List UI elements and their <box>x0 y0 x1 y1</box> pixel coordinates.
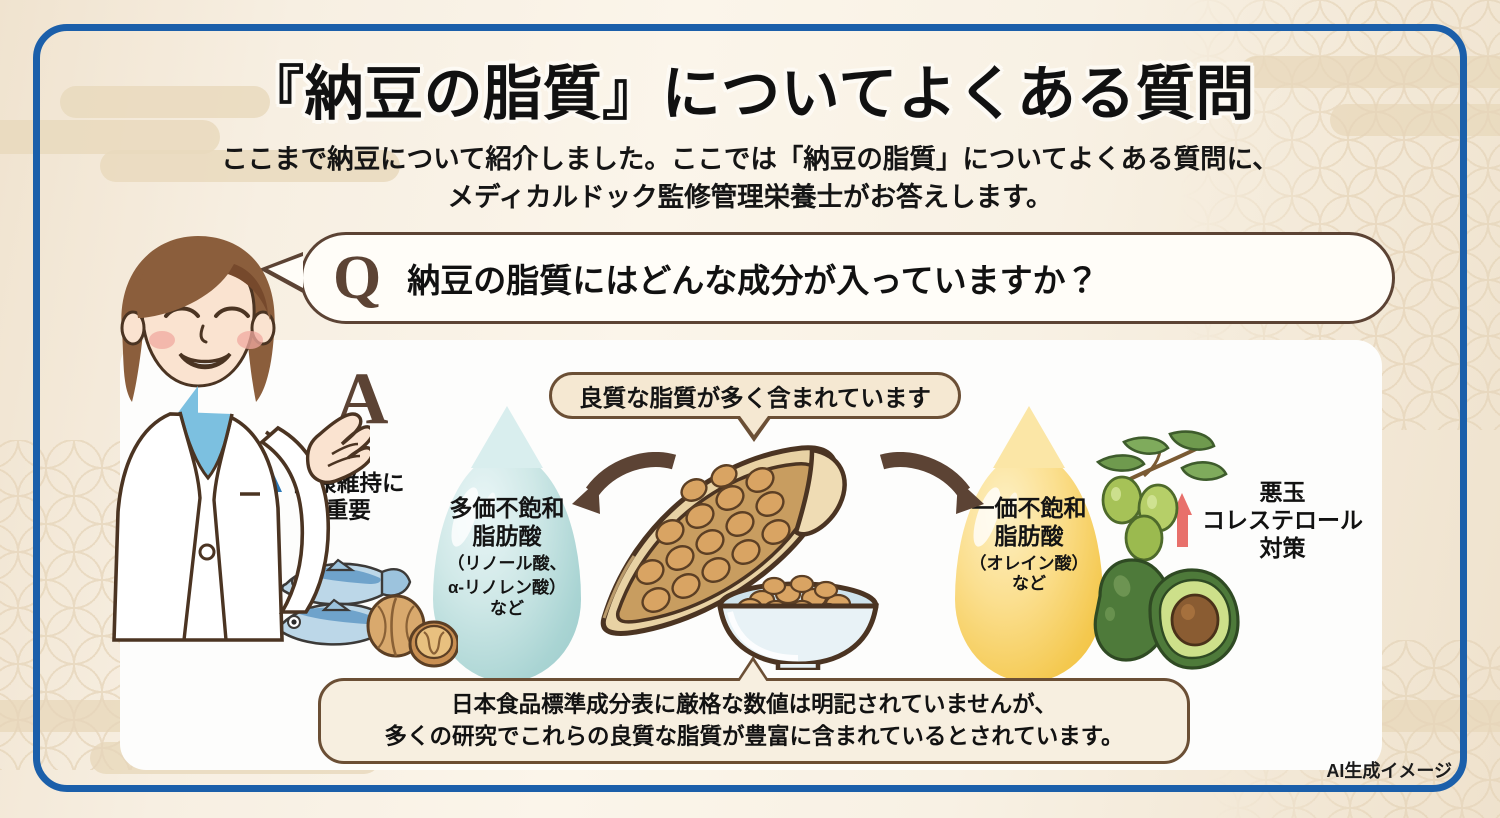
page-subtitle: ここまで納豆について紹介しました。ここでは「納豆の脂質」についてよくある質問に、… <box>0 140 1500 217</box>
walnut-half-icon <box>410 622 458 666</box>
question-text: 納豆の脂質にはどんな成分が入っていますか？ <box>407 254 1098 302</box>
ai-image-credit: AI生成イメージ <box>1326 757 1452 783</box>
answer-note-line-2: 多くの研究でこれらの良質な脂質が豊富に含まれているとされています。 <box>385 721 1124 753</box>
question-bubble-body: Q 納豆の脂質にはどんな成分が入っていますか？ <box>300 232 1395 324</box>
olive-branch-icon <box>1098 432 1226 560</box>
answer-note-line-1: 日本食品標準成分表に厳格な数値は明記されていませんが、 <box>451 689 1057 721</box>
infographic-canvas: 『納豆の脂質』についてよくある質問 ここまで納豆について紹介しました。ここでは「… <box>0 0 1500 818</box>
page-title: 『納豆の脂質』についてよくある質問 <box>0 46 1500 131</box>
answer-note: 日本食品標準成分表に厳格な数値は明記されていませんが、 多くの研究でこれらの良質… <box>318 678 1190 764</box>
olive-and-avocado-illustration <box>1078 424 1268 674</box>
doctor-body-icon <box>114 386 282 640</box>
natto-illustration <box>590 420 930 670</box>
droplet-left-title-2: 脂肪酸 <box>433 522 581 550</box>
answer-callout: 良質な脂質が多く含まれています <box>549 372 961 419</box>
droplet-left-title-1: 多価不飽和 <box>433 494 581 522</box>
dietitian-character <box>70 222 370 652</box>
avocado-half-icon <box>1150 570 1238 668</box>
question-bubble: Q 納豆の脂質にはどんな成分が入っていますか？ <box>300 232 1395 324</box>
subtitle-line-1: ここまで納豆について紹介しました。ここでは「納豆の脂質」についてよくある質問に、 <box>0 140 1500 178</box>
answer-note-tail-fill <box>739 661 767 682</box>
subtitle-line-2: メディカルドック監修管理栄養士がお答えします。 <box>0 178 1500 216</box>
